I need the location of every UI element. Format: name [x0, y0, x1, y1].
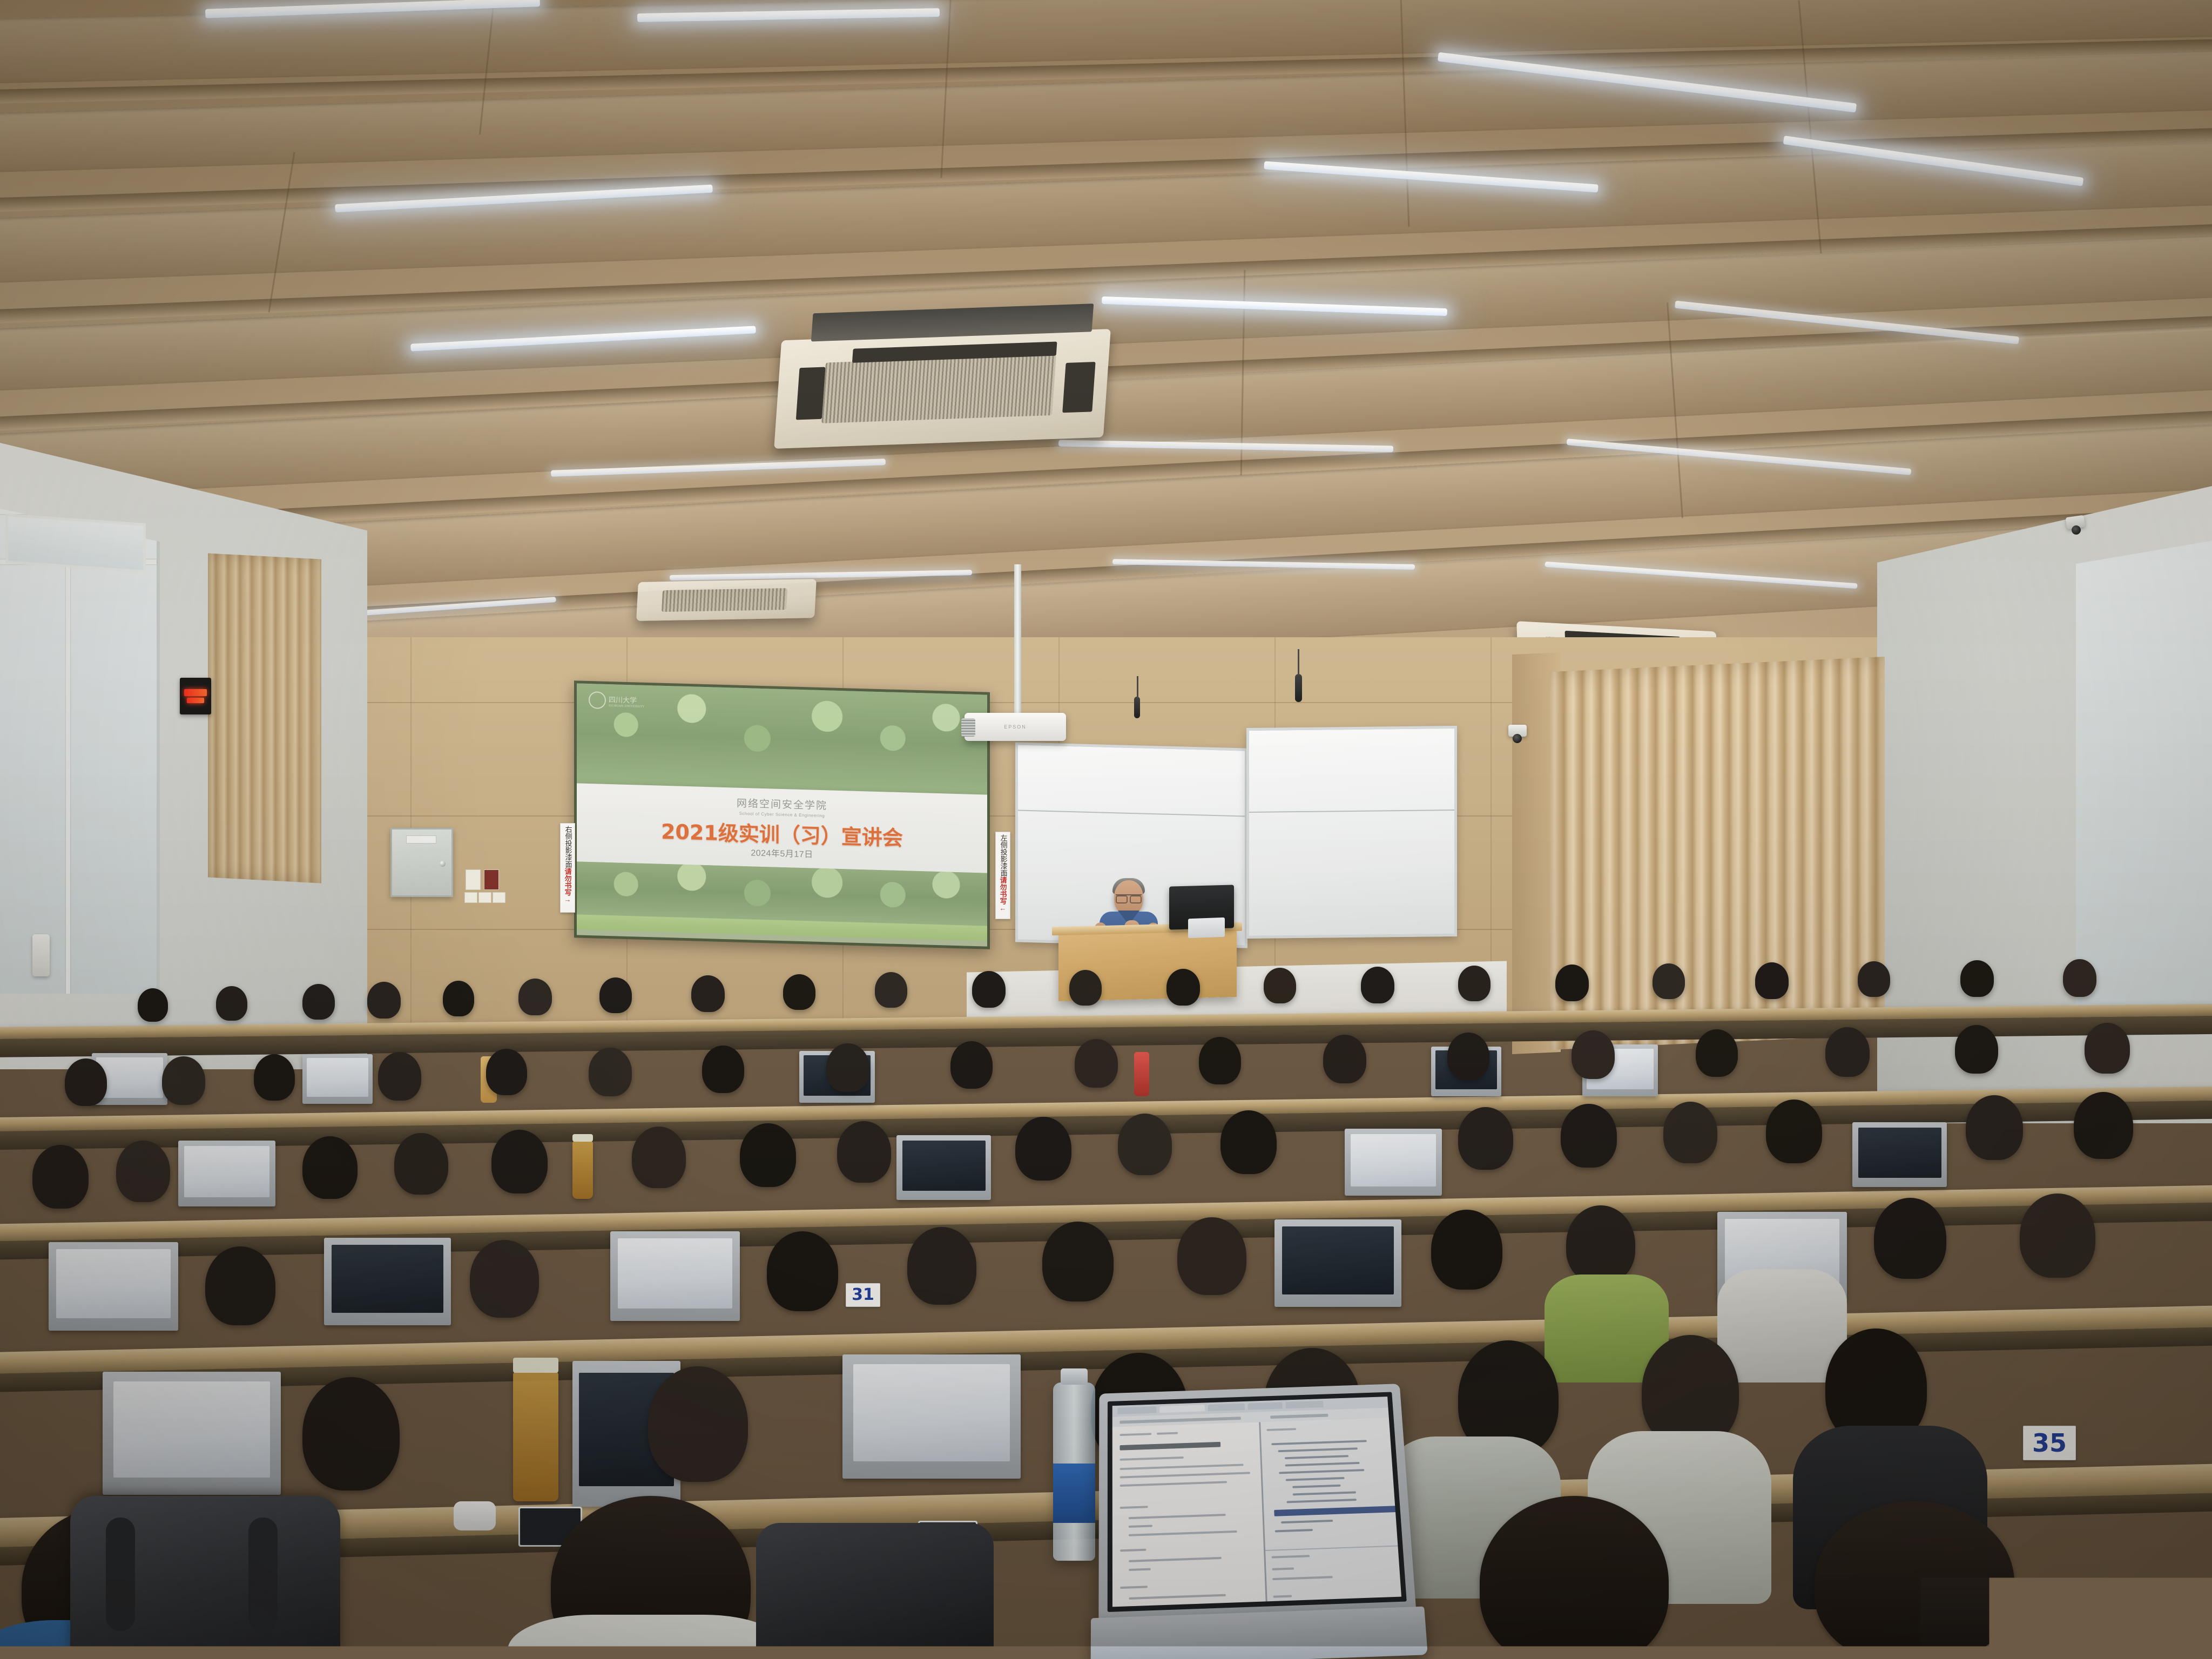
warning-sign-black-text: 右侧投影漆面 — [564, 826, 571, 868]
student-head — [1874, 1198, 1946, 1279]
university-logo: 四川大学 SICHUAN UNIVERSITY — [589, 691, 644, 710]
student-head — [837, 1121, 891, 1183]
student-head — [2074, 1092, 2133, 1159]
student-body — [1717, 1269, 1847, 1382]
student-head — [491, 1130, 548, 1193]
backpack — [70, 1496, 340, 1659]
earbuds-case — [454, 1501, 496, 1530]
wall-notice-sticker — [484, 869, 499, 890]
desk-number-35: 35 — [2023, 1426, 2076, 1460]
student-head — [1566, 1205, 1635, 1283]
student-head — [1069, 970, 1102, 1006]
water-bottle — [1053, 1382, 1095, 1561]
right-projection-warning-sign: 右侧投影漆面 请勿书写 → — [560, 823, 575, 913]
backpack — [756, 1523, 994, 1659]
student-head — [950, 1041, 993, 1089]
security-camera-icon — [2066, 515, 2086, 530]
foreground-laptop[interactable] — [1098, 1384, 1419, 1659]
ceiling-ac-unit — [774, 329, 1111, 449]
student-head — [1015, 1117, 1071, 1181]
student-head — [2063, 959, 2096, 997]
projector: EPSON — [965, 713, 1066, 741]
student-head — [1766, 1100, 1822, 1163]
student-head — [826, 1043, 869, 1092]
student-head — [1561, 1104, 1617, 1168]
student-head — [875, 972, 907, 1008]
slide-school-cn: 网络空间安全学院 — [737, 798, 827, 812]
student-head — [1118, 1114, 1172, 1175]
student-head — [1166, 969, 1200, 1006]
warning-sign-black-text: 左侧投影漆面 — [999, 834, 1006, 876]
student-body-foreground — [508, 1615, 788, 1659]
drink-bottle — [1134, 1052, 1149, 1096]
wood-slat-column — [208, 553, 321, 883]
student-head-foreground — [1480, 1496, 1669, 1659]
student-head — [1264, 968, 1296, 1003]
student-head — [302, 1377, 400, 1491]
student-laptop[interactable] — [49, 1242, 178, 1331]
left-projection-warning-sign: 左侧投影漆面 请勿书写 ← — [995, 832, 1010, 919]
bottle-label — [1053, 1464, 1095, 1523]
student-head — [1458, 1107, 1513, 1170]
student-head — [1042, 1222, 1114, 1301]
student-head — [1572, 1030, 1615, 1079]
student-head — [1323, 1035, 1366, 1083]
student-laptop[interactable] — [1852, 1122, 1947, 1187]
student-head — [116, 1141, 170, 1202]
student-head — [1555, 965, 1589, 1001]
student-head — [1075, 1039, 1118, 1088]
logo-text-cn: 四川大学 — [609, 696, 637, 705]
left-window — [0, 508, 160, 994]
warning-sign-arrow-icon: ← — [1000, 905, 1007, 912]
student-head — [1220, 1110, 1277, 1174]
student-head — [1642, 1335, 1739, 1447]
whiteboard-right — [1246, 726, 1457, 939]
student-laptop[interactable] — [178, 1141, 275, 1206]
student-head — [1955, 1025, 1998, 1074]
lecture-hall-photo: 网络空间安全学院 School of Cyber Science & Engin… — [0, 0, 2212, 1659]
right-window — [2076, 540, 2212, 1015]
student-laptop[interactable] — [842, 1354, 1021, 1479]
student-head — [972, 971, 1006, 1008]
student-head — [783, 974, 815, 1010]
wall-notice-sticker — [466, 869, 481, 890]
student-head — [1663, 1102, 1717, 1163]
wall-notice-sticker — [478, 892, 491, 903]
student-head — [1825, 1027, 1870, 1077]
hanging-microphone-icon — [1134, 697, 1140, 718]
left-window-transom — [5, 514, 146, 573]
student-head — [1177, 1217, 1246, 1295]
electrical-panel[interactable] — [390, 828, 453, 897]
student-head-foreground — [1815, 1501, 2014, 1659]
student-head — [740, 1123, 796, 1187]
student-head — [378, 1052, 421, 1101]
student-laptop[interactable] — [324, 1238, 451, 1325]
projector-brand-label: EPSON — [1004, 724, 1027, 730]
ceiling-light-tube — [1058, 440, 1393, 453]
student-head — [907, 1227, 976, 1305]
student-laptop[interactable] — [610, 1231, 740, 1321]
student-laptop[interactable] — [1274, 1219, 1401, 1307]
student-head — [767, 1231, 838, 1311]
student-head — [443, 981, 474, 1016]
led-display — [180, 678, 211, 714]
laptop-screen[interactable] — [1108, 1392, 1407, 1612]
student-head — [394, 1133, 448, 1195]
ceiling-ac-unit — [636, 579, 817, 621]
laptop-lid — [1098, 1384, 1416, 1621]
logo-ring-icon — [589, 691, 606, 709]
student-head — [2020, 1193, 2095, 1278]
glasses-icon — [1116, 894, 1142, 901]
student-head — [691, 975, 725, 1012]
student-head — [32, 1145, 89, 1209]
student-head — [648, 1366, 748, 1482]
projector-lens-icon — [961, 718, 975, 737]
hanging-microphone-icon — [1295, 674, 1302, 702]
student-head — [518, 979, 552, 1015]
student-head — [702, 1046, 744, 1093]
student-head — [1458, 966, 1491, 1001]
student-laptop[interactable] — [302, 1054, 373, 1104]
projection-screen: 网络空间安全学院 School of Cyber Science & Engin… — [574, 680, 990, 949]
bottle-cap — [1061, 1368, 1088, 1385]
warning-sign-red-text: 请勿书写 — [564, 868, 571, 896]
student-head — [1960, 960, 1994, 997]
projector-mount-pole — [1014, 564, 1021, 721]
student-head — [486, 1049, 527, 1095]
student-head — [1966, 1095, 2023, 1160]
student-head — [367, 982, 401, 1019]
student-laptop[interactable] — [1345, 1129, 1442, 1196]
student-head — [470, 1240, 539, 1318]
student-head — [138, 988, 168, 1022]
student-head — [599, 977, 632, 1013]
student-head — [1696, 1029, 1738, 1077]
student-head — [2085, 1023, 2130, 1074]
student-head — [1653, 963, 1685, 999]
logo-text-en: SICHUAN UNIVERSITY — [609, 704, 644, 709]
student-head — [589, 1048, 632, 1096]
wall-notice-sticker — [493, 892, 505, 903]
student-head — [1431, 1210, 1502, 1290]
student-head — [65, 1058, 107, 1106]
student-head — [216, 986, 247, 1021]
student-head — [205, 1246, 275, 1325]
warning-sign-red-text: 请勿书写 — [999, 876, 1006, 905]
student-head — [632, 1127, 686, 1188]
student-head — [1755, 962, 1789, 999]
warning-sign-arrow-icon: → — [564, 896, 571, 903]
wall-notice-sticker — [464, 892, 477, 903]
desk-number-31: 31 — [846, 1283, 880, 1307]
tea-bottle — [513, 1372, 558, 1501]
student-head — [1447, 1033, 1489, 1080]
student-laptop[interactable] — [896, 1135, 991, 1200]
student-head — [254, 1054, 295, 1101]
student-head — [162, 1056, 205, 1105]
student-head — [302, 1136, 358, 1199]
student-head — [1361, 967, 1394, 1003]
tea-bottle — [572, 1141, 593, 1199]
podium-laptop — [1188, 918, 1225, 938]
student-head — [302, 984, 335, 1020]
student-head — [1858, 961, 1890, 997]
student-laptop[interactable] — [103, 1372, 281, 1495]
student-head — [1199, 1037, 1241, 1084]
security-camera-icon — [1508, 725, 1527, 737]
